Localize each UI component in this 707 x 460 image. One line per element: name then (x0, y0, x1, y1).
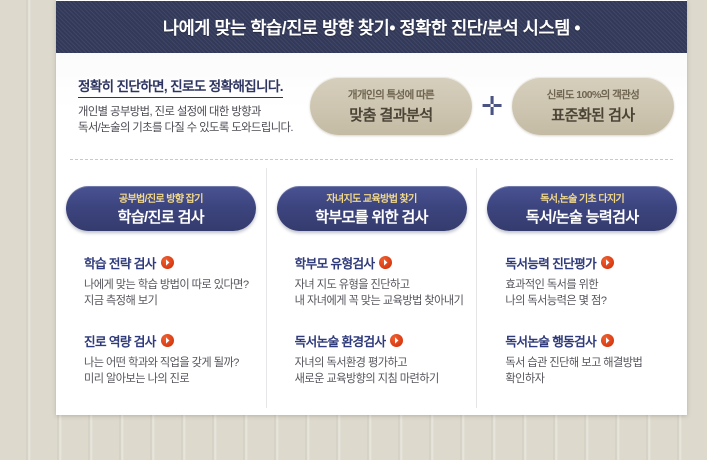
arrow-right-icon[interactable] (161, 256, 174, 269)
feature-badge-custom-analysis: 개개인의 특성에 따른 맞춤 결과분석 (310, 77, 472, 135)
feature-badges: 개개인의 특성에 따른 맞춤 결과분석 ✛ 신뢰도 100%의 객관성 표준화된… (310, 77, 674, 135)
feature-badge-standardized-test-main: 표준화된 검사 (551, 104, 634, 125)
item-desc-line2: 나의 독서능력은 몇 점? (505, 294, 687, 310)
item-title-row: 학부모 유형검사 (295, 253, 477, 272)
item-title-row: 독서논술 행동검사 (505, 331, 687, 350)
item-desc-line1: 효과적인 독서를 위한 (505, 278, 687, 294)
item-title: 학부모 유형검사 (295, 253, 375, 272)
item-title: 진로 역량 검사 (84, 331, 156, 350)
item-desc-line2: 새로운 교육방향의 지침 마련하기 (295, 372, 477, 388)
item-desc-line1: 나에게 맞는 학습 방법이 따로 있다면? (84, 278, 266, 294)
item-desc-line1: 자녀의 독서환경 평가하고 (295, 356, 477, 372)
category-header-parents[interactable]: 자녀지도 교육방법 찾기 학부모를 위한 검사 (277, 186, 467, 231)
item-desc-line2: 미리 알아보는 나의 진로 (84, 372, 266, 388)
category-header-parents-sub: 자녀지도 교육방법 찾기 (326, 190, 416, 205)
category-items-parents: 학부모 유형검사 자녀 지도 유형을 진단하고 내 자녀에게 꼭 맞는 교육방법… (267, 253, 477, 387)
intro-headline: 정확히 진단하면, 진로도 정확해집니다. (78, 75, 283, 98)
feature-badge-custom-analysis-main: 맞춤 결과분석 (349, 104, 432, 125)
item-title: 독서논술 행동검사 (505, 331, 596, 350)
category-header-study-career-sub: 공부법/진로 방향 잡기 (119, 190, 203, 205)
page-title: 나에게 맞는 학습/진로 방향 찾기• 정확한 진단/분석 시스템 • (163, 15, 580, 40)
category-header-reading-essay[interactable]: 독서,논술 기초 다지기 독서/논술 능력검사 (487, 186, 677, 231)
arrow-right-icon[interactable] (161, 334, 174, 347)
category-column-reading-essay: 독서,논술 기초 다지기 독서/논술 능력검사 독서능력 진단평가 효과적인 독… (476, 168, 687, 408)
intro-section: 정확히 진단하면, 진로도 정확해집니다. 개인별 공부방법, 진로 설정에 대… (56, 53, 687, 158)
category-items-study-career: 학습 전략 검사 나에게 맞는 학습 방법이 따로 있다면? 지금 측정해 보기… (56, 253, 266, 387)
item-title-row: 진로 역량 검사 (84, 331, 266, 350)
category-header-study-career-main: 학습/진로 검사 (118, 206, 204, 227)
list-item[interactable]: 학부모 유형검사 자녀 지도 유형을 진단하고 내 자녀에게 꼭 맞는 교육방법… (295, 253, 477, 309)
category-header-study-career[interactable]: 공부법/진로 방향 잡기 학습/진로 검사 (66, 186, 256, 231)
category-header-parents-main: 학부모를 위한 검사 (315, 206, 428, 227)
arrow-right-icon[interactable] (379, 256, 392, 269)
category-header-reading-essay-main: 독서/논술 능력검사 (526, 206, 639, 227)
category-header-reading-essay-sub: 독서,논술 기초 다지기 (540, 190, 624, 205)
item-desc-line2: 내 자녀에게 꼭 맞는 교육방법 찾아내기 (295, 294, 477, 310)
item-title-row: 독서능력 진단평가 (505, 253, 687, 272)
arrow-right-icon[interactable] (601, 334, 614, 347)
test-categories: 공부법/진로 방향 잡기 학습/진로 검사 학습 전략 검사 나에게 맞는 학습… (56, 168, 687, 408)
item-title-row: 독서논술 환경검사 (295, 331, 477, 350)
item-desc-line1: 나는 어떤 학과와 직업을 갖게 될까? (84, 356, 266, 372)
item-title: 독서능력 진단평가 (505, 253, 596, 272)
category-items-reading-essay: 독서능력 진단평가 효과적인 독서를 위한 나의 독서능력은 몇 점? 독서논술… (477, 253, 687, 387)
page-title-part2: • 정확한 진단/분석 시스템 • (389, 18, 580, 38)
arrow-right-icon[interactable] (601, 256, 614, 269)
item-title: 독서논술 환경검사 (295, 331, 386, 350)
list-item[interactable]: 진로 역량 검사 나는 어떤 학과와 직업을 갖게 될까? 미리 알아보는 나의… (84, 331, 266, 387)
intro-body-line1: 개인별 공부방법, 진로 설정에 대한 방향과 (78, 105, 306, 121)
category-column-parents: 자녀지도 교육방법 찾기 학부모를 위한 검사 학부모 유형검사 자녀 지도 유… (266, 168, 477, 408)
list-item[interactable]: 독서논술 행동검사 독서 습관 진단해 보고 해결방법 확인하자 (505, 331, 687, 387)
feature-badge-custom-analysis-sub: 개개인의 특성에 따른 (348, 87, 434, 102)
section-divider (70, 159, 673, 160)
header-bar: 나에게 맞는 학습/진로 방향 찾기• 정확한 진단/분석 시스템 • (56, 1, 687, 53)
intro-body-line2: 독서/논술의 기초를 다질 수 있도록 도와드립니다. (78, 121, 306, 137)
item-title: 학습 전략 검사 (84, 253, 156, 272)
list-item[interactable]: 독서논술 환경검사 자녀의 독서환경 평가하고 새로운 교육방향의 지침 마련하… (295, 331, 477, 387)
category-column-study-career: 공부법/진로 방향 잡기 학습/진로 검사 학습 전략 검사 나에게 맞는 학습… (56, 168, 266, 408)
plus-icon: ✛ (481, 93, 503, 119)
feature-badge-standardized-test-sub: 신뢰도 100%의 객관성 (547, 87, 640, 102)
item-desc-line1: 자녀 지도 유형을 진단하고 (295, 278, 477, 294)
feature-badge-standardized-test: 신뢰도 100%의 객관성 표준화된 검사 (512, 77, 674, 135)
list-item[interactable]: 학습 전략 검사 나에게 맞는 학습 방법이 따로 있다면? 지금 측정해 보기 (84, 253, 266, 309)
page-title-part1: 나에게 맞는 학습/진로 방향 찾기 (163, 18, 389, 38)
item-desc-line2: 지금 측정해 보기 (84, 294, 266, 310)
arrow-right-icon[interactable] (390, 334, 403, 347)
item-title-row: 학습 전략 검사 (84, 253, 266, 272)
item-desc-line2: 확인하자 (505, 372, 687, 388)
list-item[interactable]: 독서능력 진단평가 효과적인 독서를 위한 나의 독서능력은 몇 점? (505, 253, 687, 309)
item-desc-line1: 독서 습관 진단해 보고 해결방법 (505, 356, 687, 372)
intro-text-block: 정확히 진단하면, 진로도 정확해집니다. 개인별 공부방법, 진로 설정에 대… (56, 75, 306, 136)
